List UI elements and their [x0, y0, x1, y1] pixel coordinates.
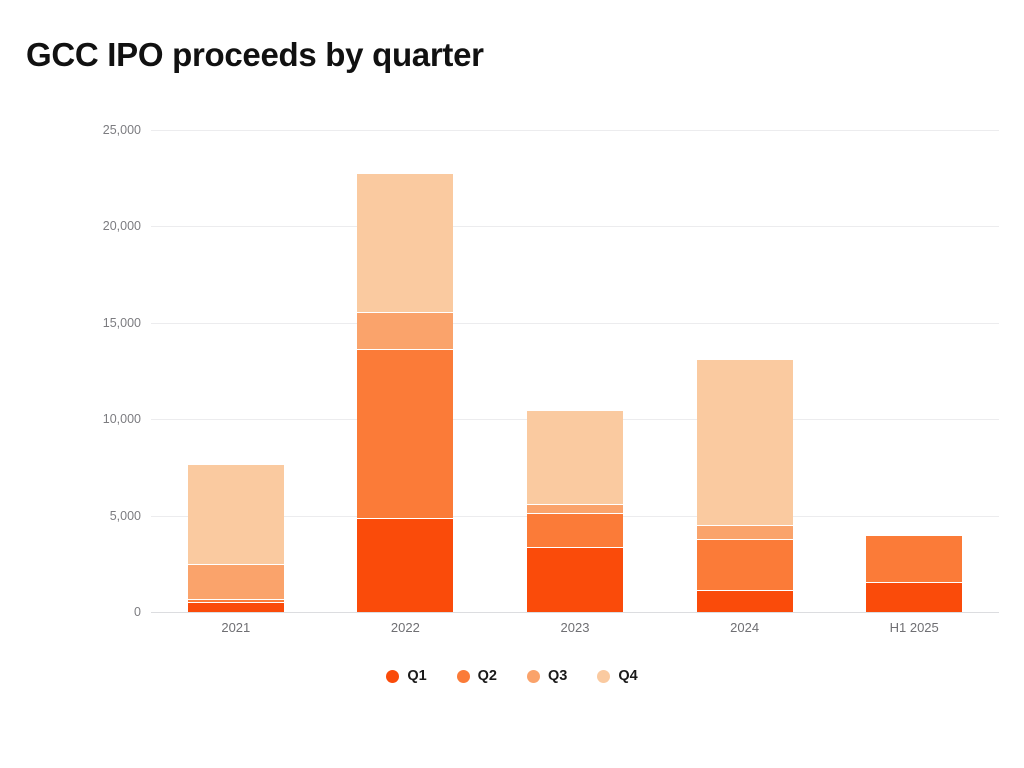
y-tick-label: 5,000 — [71, 509, 141, 523]
bar-segment-q3[interactable] — [527, 504, 623, 513]
legend-swatch-circle-icon — [457, 670, 470, 683]
bar-segment-q1[interactable] — [188, 602, 284, 612]
bar-group[interactable] — [866, 130, 962, 612]
legend-item-q2[interactable]: Q2 — [457, 668, 497, 684]
x-tick-label: H1 2025 — [890, 620, 939, 635]
x-tick-label: 2022 — [391, 620, 420, 635]
y-tick-label: 25,000 — [71, 123, 141, 137]
legend-label: Q1 — [407, 668, 426, 684]
bar-segment-q1[interactable] — [697, 590, 793, 612]
x-tick-label: 2021 — [221, 620, 250, 635]
x-axis-tick-labels: 2021202220232024H1 2025 — [151, 620, 999, 646]
bar-segment-q4[interactable] — [527, 410, 623, 504]
gridline-0 — [151, 612, 999, 613]
bar-group[interactable] — [188, 130, 284, 612]
x-tick-label: 2024 — [730, 620, 759, 635]
legend: Q1Q2Q3Q4 — [0, 668, 1024, 684]
bar-segment-q3[interactable] — [357, 312, 453, 349]
y-tick-label: 15,000 — [71, 316, 141, 330]
bar-segment-q4[interactable] — [357, 173, 453, 312]
bar-segment-q4[interactable] — [188, 464, 284, 564]
y-tick-label: 0 — [71, 605, 141, 619]
bar-segment-q4[interactable] — [697, 359, 793, 525]
legend-item-q3[interactable]: Q3 — [527, 668, 567, 684]
plot-area — [151, 130, 999, 612]
bar-segment-q1[interactable] — [357, 518, 453, 612]
bar-segment-q3[interactable] — [188, 564, 284, 599]
page-title: GCC IPO proceeds by quarter — [26, 36, 484, 74]
y-axis-tick-labels: 05,00010,00015,00020,00025,000 — [61, 130, 141, 612]
legend-label: Q2 — [478, 668, 497, 684]
bar-segment-q1[interactable] — [527, 547, 623, 612]
bar-group[interactable] — [357, 130, 453, 612]
legend-swatch-circle-icon — [597, 670, 610, 683]
bar-group[interactable] — [697, 130, 793, 612]
legend-label: Q3 — [548, 668, 567, 684]
legend-swatch-circle-icon — [386, 670, 399, 683]
legend-label: Q4 — [618, 668, 637, 684]
bar-segment-q2[interactable] — [357, 349, 453, 518]
y-tick-label: 20,000 — [71, 219, 141, 233]
bar-segment-q3[interactable] — [697, 525, 793, 538]
bar-segment-q2[interactable] — [866, 535, 962, 582]
legend-swatch-circle-icon — [527, 670, 540, 683]
chart-container: GCC IPO proceeds by quarter ($ in millio… — [0, 0, 1024, 768]
y-tick-label: 10,000 — [71, 412, 141, 426]
x-tick-label: 2023 — [561, 620, 590, 635]
bar-segment-q1[interactable] — [866, 582, 962, 612]
bar-group[interactable] — [527, 130, 623, 612]
bar-segment-q2[interactable] — [697, 539, 793, 590]
bar-segment-q2[interactable] — [188, 599, 284, 603]
legend-item-q1[interactable]: Q1 — [386, 668, 426, 684]
bar-segment-q2[interactable] — [527, 513, 623, 548]
legend-item-q4[interactable]: Q4 — [597, 668, 637, 684]
